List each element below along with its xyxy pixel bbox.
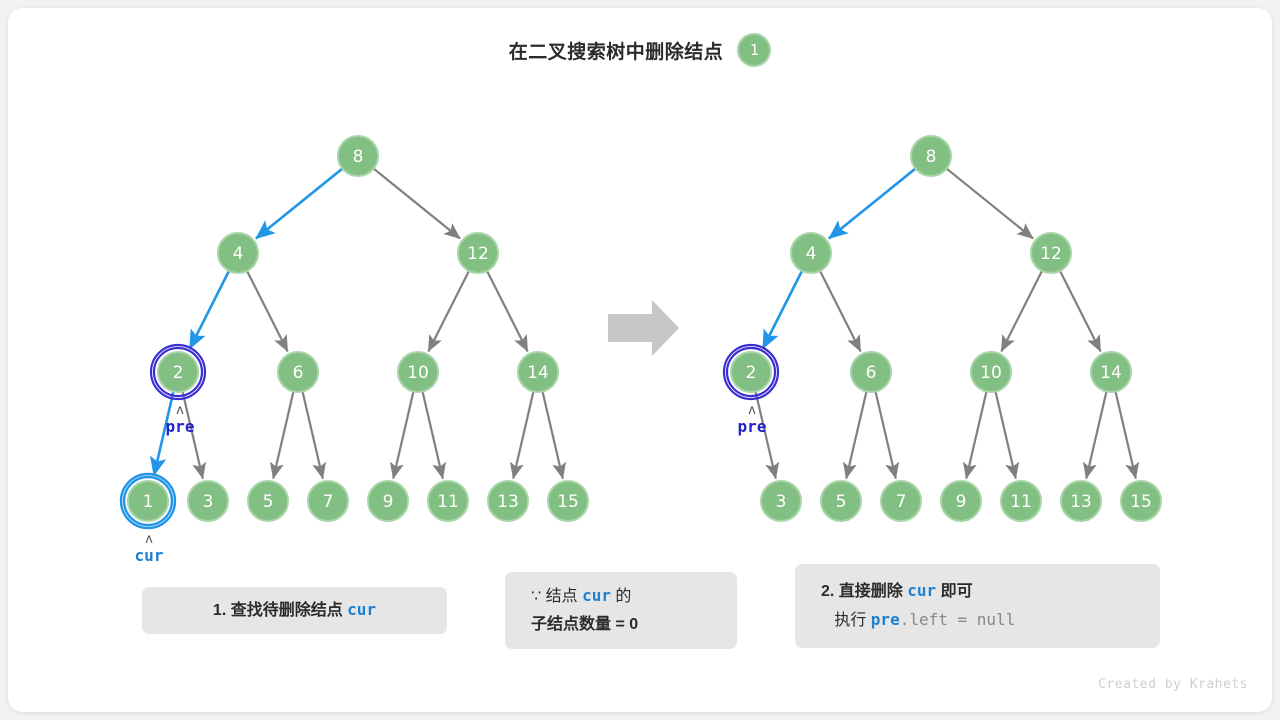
tree-node: 14: [518, 352, 558, 392]
node-value: 6: [866, 363, 877, 383]
pointer-label-pre: pre: [166, 417, 195, 436]
caption-step-1-line: 1. 查找待删除结点 cur: [213, 596, 376, 625]
tree-edge: [428, 271, 469, 352]
tree-edge: [829, 169, 916, 239]
node-value: 7: [896, 492, 907, 512]
tree-node: 6: [278, 352, 318, 392]
node-value: 5: [263, 492, 274, 512]
tree-edge: [393, 391, 413, 478]
tree-edge: [256, 169, 343, 239]
tree-edge: [1086, 391, 1106, 478]
node-value: 10: [980, 363, 1002, 383]
tree-edge: [1060, 271, 1101, 352]
tree-node: 14: [1091, 352, 1131, 392]
tree-node: 9: [368, 481, 408, 521]
node-value: 1: [143, 492, 154, 512]
node-value: 4: [233, 244, 244, 264]
tree-edge: [763, 271, 802, 349]
node-value: 15: [1130, 492, 1152, 512]
node-value: 8: [926, 147, 937, 167]
caption-step-1-code: cur: [347, 600, 376, 619]
node-value: 12: [1040, 244, 1062, 264]
tree-edge: [303, 391, 323, 478]
tree-node: 13: [1061, 481, 1101, 521]
caption-reason-line-1: ∵ 结点 cur 的: [531, 582, 737, 611]
node-value: 6: [293, 363, 304, 383]
tree-node: 11: [428, 481, 468, 521]
tree-edge: [876, 391, 896, 478]
caption-step-2-exec-prefix: 执行: [821, 612, 871, 629]
tree-node: 8: [338, 136, 378, 176]
caption-step-2-suffix: 即可: [936, 583, 972, 600]
pointer-label-cur: cur: [135, 546, 164, 565]
tree-edge: [996, 391, 1016, 478]
tree-edge: [1116, 391, 1136, 478]
tree-node: 10: [971, 352, 1011, 392]
node-value: 14: [1100, 363, 1122, 383]
node-value: 9: [956, 492, 967, 512]
node-value: 3: [203, 492, 214, 512]
tree-node: 2: [151, 345, 205, 399]
node-value: 2: [746, 363, 757, 383]
node-value: 4: [806, 244, 817, 264]
tree-edge: [273, 391, 293, 478]
tree-edge: [820, 271, 861, 352]
tree-node: 3: [188, 481, 228, 521]
pointer-caret-icon: ʌ: [176, 403, 184, 418]
credit-label: Created by Krahets: [1098, 677, 1248, 692]
tree-edge: [423, 391, 443, 478]
tree-node: 9: [941, 481, 981, 521]
tree-node: 2: [724, 345, 778, 399]
node-value: 9: [383, 492, 394, 512]
tree-node: 7: [308, 481, 348, 521]
caption-step-2-line-2: 执行 pre.left = null: [821, 606, 1160, 635]
node-value: 14: [527, 363, 549, 383]
tree-edge: [966, 391, 986, 478]
pointer-label-pre: pre: [738, 417, 767, 436]
tree-node: 3: [761, 481, 801, 521]
tree-node: 1: [121, 474, 175, 528]
tree-edge: [513, 391, 533, 478]
tree-node: 11: [1001, 481, 1041, 521]
caption-step-1: 1. 查找待删除结点 cur: [142, 587, 447, 634]
node-value: 13: [497, 492, 519, 512]
node-value: 7: [323, 492, 334, 512]
tree-node: 12: [458, 233, 498, 273]
tree-node: 4: [791, 233, 831, 273]
tree-edge: [846, 391, 866, 478]
tree-node: 4: [218, 233, 258, 273]
caption-step-2-line-1: 2. 直接删除 cur 即可: [821, 577, 1160, 606]
tree-node: 7: [881, 481, 921, 521]
node-value: 3: [776, 492, 787, 512]
diagram-canvas: 在二叉搜索树中删除结点 1 84122610141357911131584122…: [0, 0, 1280, 720]
tree-node: 5: [821, 481, 861, 521]
caption-step-1-text: 1. 查找待删除结点: [213, 602, 347, 619]
caption-reason-line-2: 子结点数量 = 0: [531, 611, 737, 639]
tree-node: 15: [1121, 481, 1161, 521]
transition-arrow-icon: [608, 300, 679, 356]
node-value: 11: [1010, 492, 1032, 512]
node-value: 5: [836, 492, 847, 512]
node-value: 2: [173, 363, 184, 383]
tree-edge: [947, 169, 1034, 239]
tree-node: 5: [248, 481, 288, 521]
node-value: 11: [437, 492, 459, 512]
caption-reason-prefix: ∵ 结点: [531, 588, 582, 605]
caption-reason-code: cur: [582, 586, 611, 605]
node-value: 10: [407, 363, 429, 383]
caption-step-2-code: cur: [907, 581, 936, 600]
caption-step-2-exec-suffix: .left = null: [900, 610, 1016, 629]
tree-edge: [247, 271, 288, 352]
tree-edge: [374, 169, 461, 239]
tree-edge: [190, 271, 229, 349]
tree-node: 12: [1031, 233, 1071, 273]
caption-step-2-exec-code: pre: [871, 610, 900, 629]
tree-edge: [487, 271, 528, 352]
node-value: 13: [1070, 492, 1092, 512]
caption-reason: ∵ 结点 cur 的 子结点数量 = 0: [505, 572, 737, 649]
tree-node: 13: [488, 481, 528, 521]
tree-edge: [543, 391, 563, 478]
caption-reason-suffix: 的: [611, 588, 631, 605]
node-value: 12: [467, 244, 489, 264]
tree-node: 6: [851, 352, 891, 392]
tree-node: 15: [548, 481, 588, 521]
node-value: 8: [353, 147, 364, 167]
tree-node: 8: [911, 136, 951, 176]
tree-node: 10: [398, 352, 438, 392]
caption-step-2: 2. 直接删除 cur 即可 执行 pre.left = null: [795, 564, 1160, 648]
pointer-caret-icon: ʌ: [145, 532, 153, 547]
pointer-caret-icon: ʌ: [748, 403, 756, 418]
caption-step-2-prefix: 2. 直接删除: [821, 583, 907, 600]
tree-edge: [1001, 271, 1042, 352]
node-value: 15: [557, 492, 579, 512]
